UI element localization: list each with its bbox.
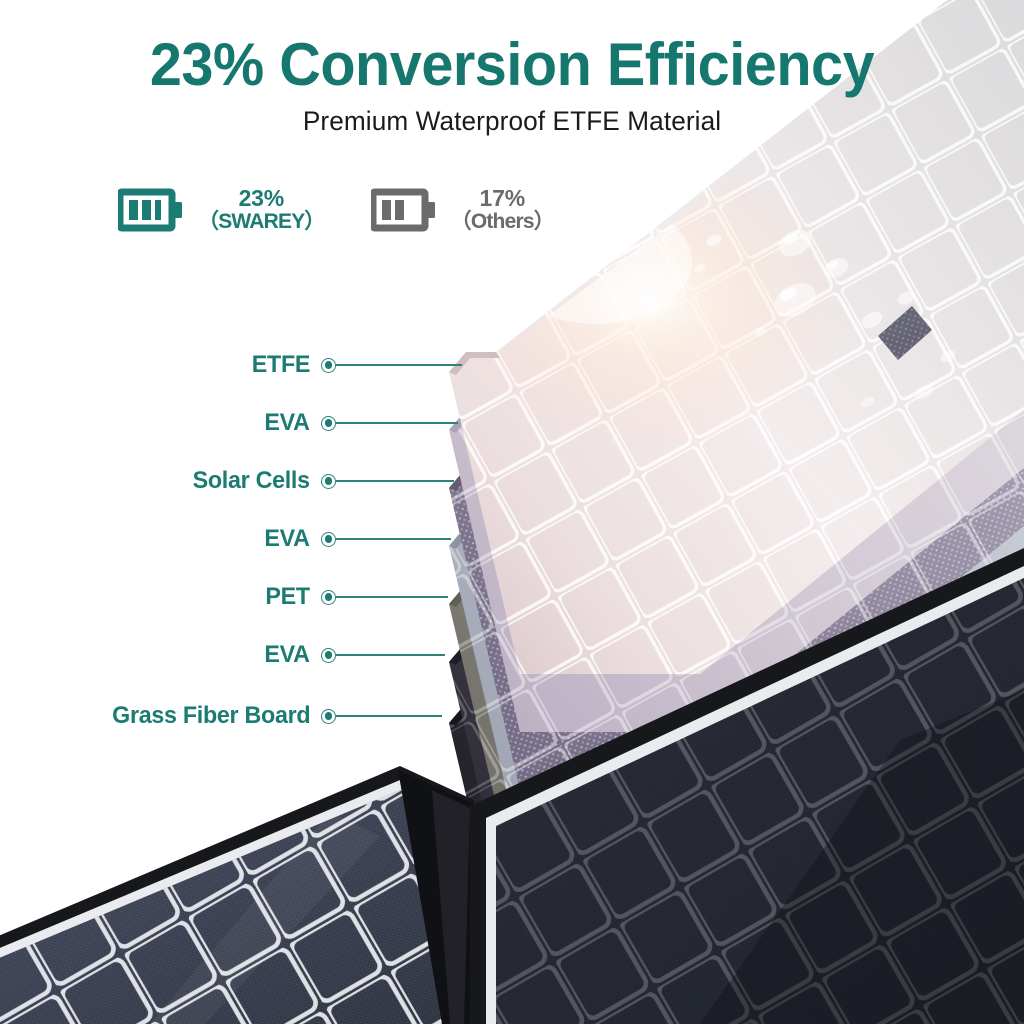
layer-callout-pet: PET [321, 582, 448, 612]
layer-bullet-icon [321, 648, 336, 663]
layer-bullet-icon [321, 532, 336, 547]
layer-bullet-icon [321, 474, 336, 489]
layer-label: Grass Fiber Board [112, 702, 310, 730]
layer-label: EVA [265, 409, 310, 437]
layer-label: ETFE [252, 351, 310, 379]
layer-bullet-icon [321, 416, 336, 431]
layer-label: Solar Cells [193, 467, 310, 495]
layer-callout-etfe: ETFE [321, 350, 462, 380]
layer-callout-grass-fiber-board: Grass Fiber Board [321, 701, 442, 731]
leader-line [336, 654, 445, 656]
layer-callout-eva-3: EVA [321, 640, 445, 670]
layer-bullet-icon [321, 709, 336, 724]
leader-line [336, 596, 448, 598]
leader-line [336, 364, 462, 366]
leader-line [336, 480, 454, 482]
leader-line [336, 715, 442, 717]
leader-line [336, 422, 458, 424]
layer-callout-eva-1: EVA [321, 408, 458, 438]
layer-callout-list: ETFE EVA Solar Cells EVA PET EVA [0, 0, 1024, 1024]
layer-bullet-icon [321, 590, 336, 605]
leader-line [336, 538, 451, 540]
infographic-canvas: 23% Conversion Efficiency Premium Waterp… [0, 0, 1024, 1024]
layer-bullet-icon [321, 358, 336, 373]
layer-label: PET [266, 583, 310, 611]
layer-callout-solar-cells: Solar Cells [321, 466, 454, 496]
layer-label: EVA [265, 641, 310, 669]
layer-label: EVA [265, 525, 310, 553]
layer-callout-eva-2: EVA [321, 524, 451, 554]
